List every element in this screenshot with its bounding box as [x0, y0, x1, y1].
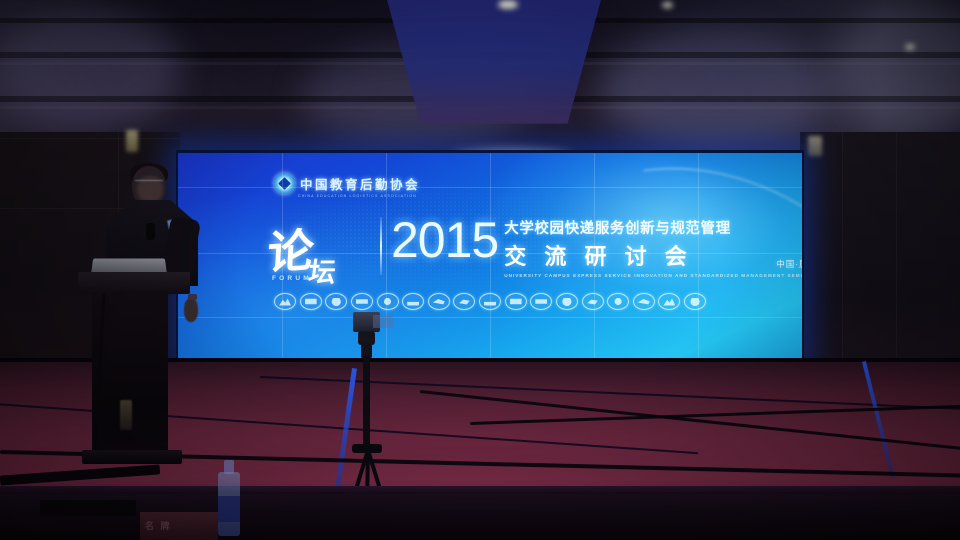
association-name-en: CHINA EDUCATION LOGISTICS ASSOCIATION: [298, 194, 417, 198]
handheld-microphone: [146, 223, 155, 240]
ceiling-light-glow: [830, 4, 960, 134]
led-panel-seam: [594, 153, 595, 359]
name-card-text: 名 牌: [145, 519, 172, 532]
downlight-icon: [905, 44, 915, 50]
led-screen-surface: 中国教育后勤协会 CHINA EDUCATION LOGISTICS ASSOC…: [178, 153, 802, 359]
phone-icon: [556, 293, 578, 310]
wall-light-strip: [126, 130, 138, 152]
lectern-base: [82, 450, 182, 464]
envelope-icon: [300, 293, 322, 310]
scan-icon: [658, 293, 680, 310]
document-icon: [351, 293, 373, 310]
box-icon: [530, 293, 552, 310]
wall-light-strip: [808, 136, 822, 156]
eyeglasses-icon: [135, 180, 163, 188]
ship-icon: [453, 293, 475, 310]
water-bottle: [218, 460, 240, 536]
conference-photo: 中国教育后勤协会 CHINA EDUCATION LOGISTICS ASSOC…: [0, 0, 960, 540]
camera-screen: [373, 315, 393, 328]
ceiling-center-panel: [386, 0, 602, 124]
clock-icon: [377, 293, 399, 310]
forum-char-2: 坛: [306, 250, 334, 289]
globe-icon: [607, 293, 629, 310]
warehouse-icon: [505, 293, 527, 310]
wall-seam: [0, 138, 180, 139]
led-video-wall: 中国教育后勤协会 CHINA EDUCATION LOGISTICS ASSOC…: [176, 150, 804, 362]
mountain-icon: [274, 293, 296, 310]
lectern: [78, 258, 190, 470]
tripod-column: [363, 356, 370, 448]
headline-line-1: 大学校园快递服务创新与规范管理: [504, 217, 802, 238]
event-location: 中国·厦门: [776, 258, 802, 270]
title-divider: [380, 217, 382, 275]
table-name-card: 名 牌: [140, 512, 218, 540]
forum-cn-characters: 论坛: [266, 213, 335, 283]
truck-icon: [402, 293, 424, 310]
hand-parcel-icon: [582, 293, 604, 310]
ceiling: [0, 0, 960, 152]
association-emblem-icon: [274, 173, 295, 194]
forum-char-1: 论: [266, 223, 311, 280]
downlight-icon: [498, 0, 518, 9]
headline-block: 大学校园快递服务创新与规范管理 交 流 研 讨 会 中国·厦门 UNIVERSI…: [504, 215, 802, 278]
ceiling-light-glow: [600, 30, 830, 150]
floor-blue-stripe: [862, 361, 895, 478]
forum-en-label: FORUM: [272, 275, 312, 282]
headline-line-2: 交 流 研 讨 会: [504, 239, 802, 271]
bottle-label: [218, 496, 240, 522]
event-year: 2015: [391, 215, 498, 265]
association-lockup: 中国教育后勤协会: [274, 173, 420, 194]
camera-body: [353, 312, 380, 332]
foreground-object: [40, 500, 136, 516]
headline-english: UNIVERSITY CAMPUS EXPRESS SERVICE INNOVA…: [504, 273, 802, 278]
led-panel-seam: [282, 153, 283, 359]
parcel-lock-icon: [325, 293, 347, 310]
association-name-cn: 中国教育后勤协会: [300, 174, 420, 193]
downlight-icon: [662, 2, 673, 8]
led-panel-seam: [490, 153, 491, 359]
ceiling-light-glow: [0, 10, 180, 130]
plane-icon: [428, 293, 450, 310]
camera-tripod: [336, 312, 400, 508]
lectern-top: [78, 272, 190, 294]
led-panel-seam: [698, 153, 699, 359]
delivery-icon: [633, 293, 655, 310]
backdrop-title-lockup: 论坛 FORUM 2015 大学校园快递服务创新与规范管理 交 流 研 讨 会 …: [266, 215, 802, 287]
person-icon: [684, 293, 706, 310]
lectern-emblem: [120, 400, 132, 430]
